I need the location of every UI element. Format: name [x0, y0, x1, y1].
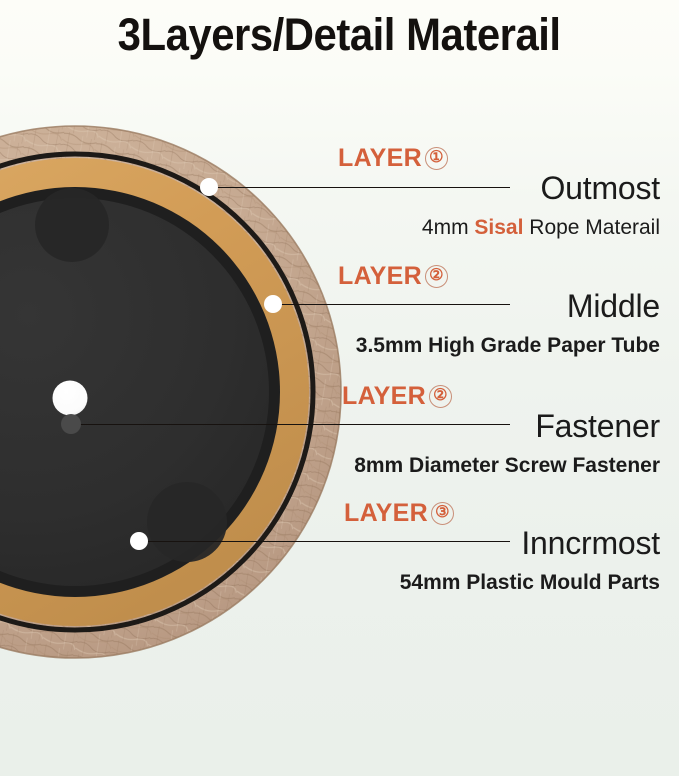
layer-number-icon-2: ② [425, 265, 448, 288]
callout-desc-4: 54mm Plastic Mould Parts [400, 571, 660, 595]
callout-desc-2: 3.5mm High Grade Paper Tube [356, 334, 660, 358]
layer-number-icon-3: ② [429, 385, 452, 408]
callout-desc-suffix-1: Rope Materail [523, 216, 660, 239]
layer-label-4: LAYER [344, 499, 428, 528]
infographic-page: 3Layers/Detail Materail [0, 0, 679, 776]
callout-desc-suffix-2: 3.5mm High Grade Paper Tube [356, 334, 660, 357]
callout-inncrmost: LAYER③ Inncrmost 54mm Plastic Mould Part… [0, 499, 679, 607]
callout-desc-1: 4mm Sisal Rope Materail [422, 216, 660, 240]
callout-title-1: Outmost [540, 170, 660, 207]
callout-list: LAYER① Outmost 4mm Sisal Rope Materail L… [0, 0, 679, 776]
layer-number-icon-1: ① [425, 147, 448, 170]
callout-desc-highlight-1: Sisal [474, 216, 523, 239]
callout-title-3: Fastener [535, 408, 660, 445]
callout-fastener: LAYER② Fastener 8mm Diameter Screw Faste… [0, 382, 679, 490]
callout-desc-suffix-4: 54mm Plastic Mould Parts [400, 571, 660, 594]
callout-title-2: Middle [567, 288, 660, 325]
layer-label-2: LAYER [338, 262, 422, 291]
layer-label-3: LAYER [342, 382, 426, 411]
callout-desc-3: 8mm Diameter Screw Fastener [354, 454, 660, 478]
callout-title-4: Inncrmost [521, 525, 660, 562]
layer-label-1: LAYER [338, 144, 422, 173]
layer-number-icon-4: ③ [431, 502, 454, 525]
callout-desc-prefix-1: 4mm [422, 216, 475, 239]
callout-middle: LAYER② Middle 3.5mm High Grade Paper Tub… [0, 262, 679, 370]
callout-outmost: LAYER① Outmost 4mm Sisal Rope Materail [0, 144, 679, 252]
callout-desc-suffix-3: 8mm Diameter Screw Fastener [354, 454, 660, 477]
